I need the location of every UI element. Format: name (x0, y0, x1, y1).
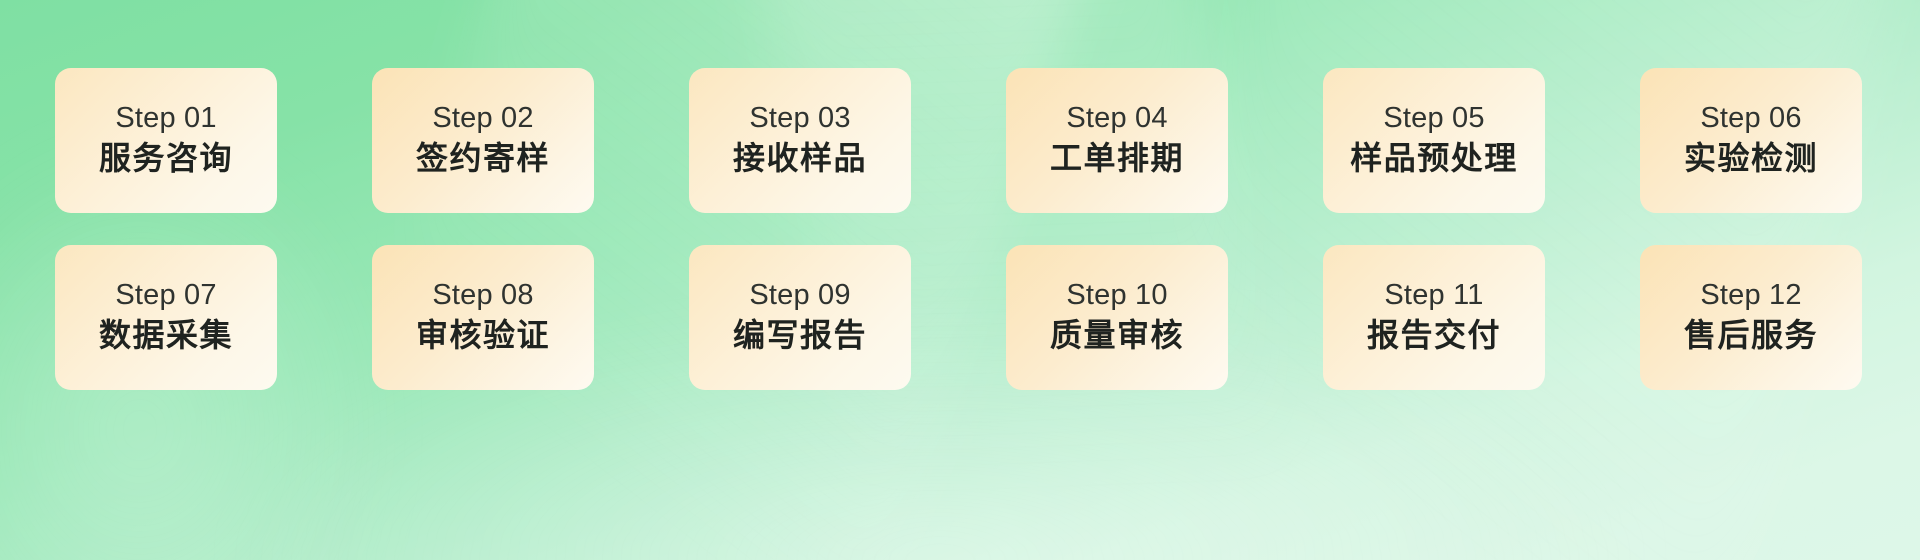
step-number: Step 04 (1066, 102, 1167, 135)
step-card-09[interactable]: Step 09 编写报告 (689, 245, 911, 390)
step-card-04[interactable]: Step 04 工单排期 (1006, 68, 1228, 213)
step-label: 接收样品 (733, 140, 867, 177)
step-card-01[interactable]: Step 01 服务咨询 (55, 68, 277, 213)
step-number: Step 10 (1066, 279, 1167, 312)
step-number: Step 09 (749, 279, 850, 312)
step-number: Step 06 (1700, 102, 1801, 135)
service-process-banner: Step 01 服务咨询 Step 02 签约寄样 Step 03 接收样品 S… (0, 0, 1920, 560)
step-label: 工单排期 (1050, 140, 1184, 177)
step-label: 质量审核 (1050, 317, 1184, 354)
step-card-10[interactable]: Step 10 质量审核 (1006, 245, 1228, 390)
step-label: 样品预处理 (1350, 140, 1518, 177)
step-card-08[interactable]: Step 08 审核验证 (372, 245, 594, 390)
step-number: Step 11 (1384, 279, 1483, 312)
step-card-12[interactable]: Step 12 售后服务 (1640, 245, 1862, 390)
step-card-02[interactable]: Step 02 签约寄样 (372, 68, 594, 213)
step-label: 编写报告 (733, 317, 867, 354)
step-label: 售后服务 (1684, 317, 1818, 354)
step-card-06[interactable]: Step 06 实验检测 (1640, 68, 1862, 213)
step-label: 签约寄样 (416, 140, 550, 177)
step-number: Step 08 (432, 279, 533, 312)
step-label: 审核验证 (416, 317, 550, 354)
step-number: Step 01 (115, 102, 216, 135)
step-number: Step 02 (432, 102, 533, 135)
step-card-11[interactable]: Step 11 报告交付 (1323, 245, 1545, 390)
step-number: Step 03 (749, 102, 850, 135)
step-label: 实验检测 (1684, 140, 1818, 177)
step-number: Step 05 (1383, 102, 1484, 135)
step-card-grid: Step 01 服务咨询 Step 02 签约寄样 Step 03 接收样品 S… (55, 68, 1865, 390)
step-number: Step 07 (115, 279, 216, 312)
step-label: 数据采集 (99, 317, 233, 354)
step-label: 报告交付 (1367, 317, 1501, 354)
step-label: 服务咨询 (99, 140, 233, 177)
step-card-05[interactable]: Step 05 样品预处理 (1323, 68, 1545, 213)
step-card-03[interactable]: Step 03 接收样品 (689, 68, 911, 213)
step-number: Step 12 (1700, 279, 1801, 312)
step-card-07[interactable]: Step 07 数据采集 (55, 245, 277, 390)
